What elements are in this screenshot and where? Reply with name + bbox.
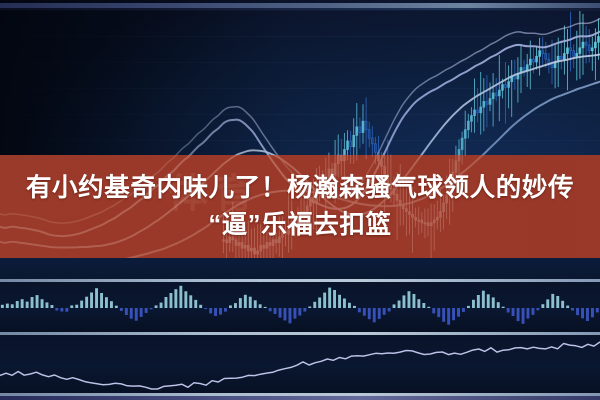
thumbnail-image: 体育 有小约基奇内味儿了！杨瀚森骚气球领人的妙传 “逼”乐福去扣篮 [0, 0, 600, 400]
indicator-panes-chart [0, 0, 600, 400]
